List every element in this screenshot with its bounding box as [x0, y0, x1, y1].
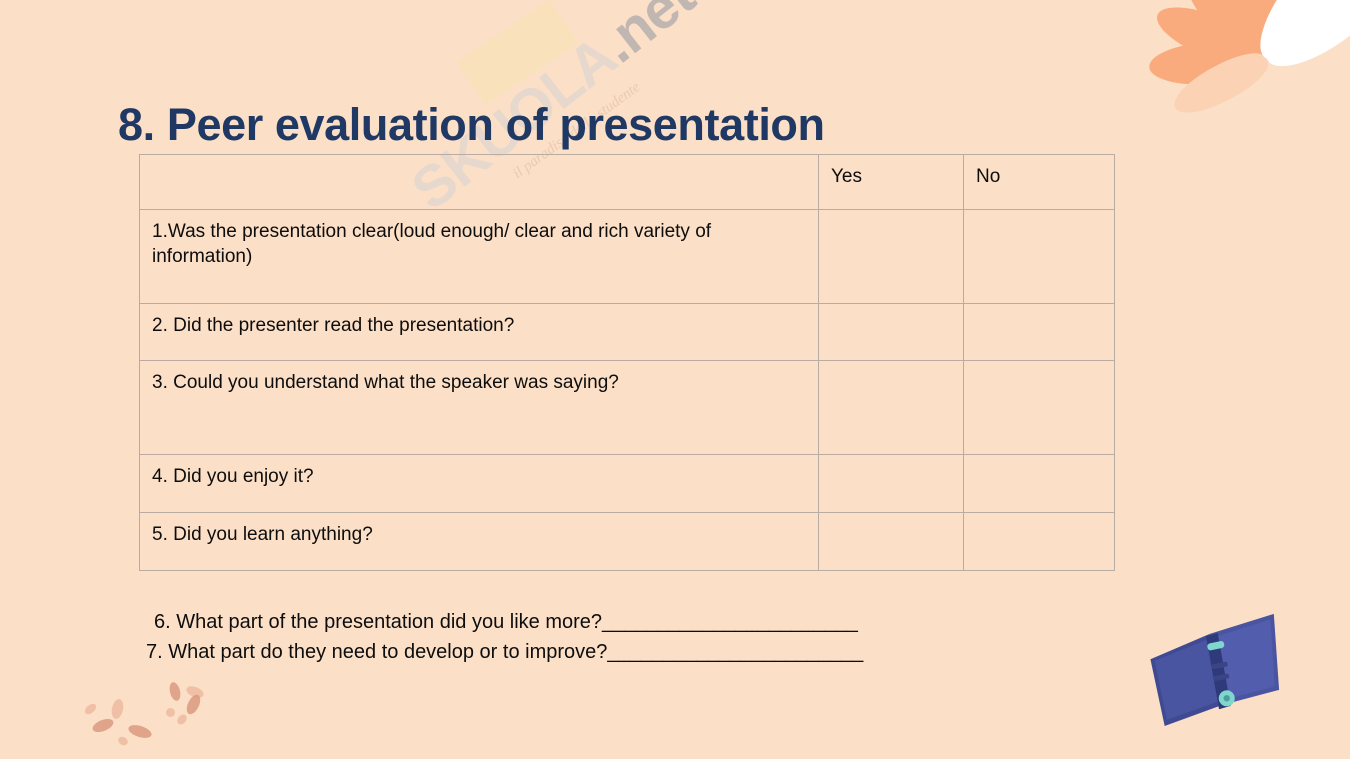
- question-cell: 3. Could you understand what the speaker…: [140, 361, 819, 455]
- answer-cell-no[interactable]: [964, 304, 1115, 361]
- table-header-row: Yes No: [140, 155, 1115, 210]
- peer-evaluation-table: Yes No 1.Was the presentation clear(loud…: [139, 154, 1115, 571]
- slide-content: 8. Peer evaluation of presentation Yes N…: [0, 0, 1350, 759]
- question-cell: 5. Did you learn anything?: [140, 513, 819, 571]
- answer-cell-no[interactable]: [964, 455, 1115, 513]
- followup-questions: 6. What part of the presentation did you…: [154, 607, 863, 668]
- answer-cell-yes[interactable]: [819, 210, 964, 304]
- question-cell: 1.Was the presentation clear(loud enough…: [140, 210, 819, 304]
- table-row: 2. Did the presenter read the presentati…: [140, 304, 1115, 361]
- answer-cell-no[interactable]: [964, 361, 1115, 455]
- question-cell: 4. Did you enjoy it?: [140, 455, 819, 513]
- answer-cell-yes[interactable]: [819, 513, 964, 571]
- header-cell-yes: Yes: [819, 155, 964, 210]
- header-cell-question: [140, 155, 819, 210]
- header-cell-no: No: [964, 155, 1115, 210]
- table-row: 4. Did you enjoy it?: [140, 455, 1115, 513]
- answer-cell-yes[interactable]: [819, 455, 964, 513]
- table-row: 3. Could you understand what the speaker…: [140, 361, 1115, 455]
- answer-cell-no[interactable]: [964, 210, 1115, 304]
- followup-question-6: 6. What part of the presentation did you…: [154, 607, 863, 637]
- answer-cell-yes[interactable]: [819, 304, 964, 361]
- answer-cell-no[interactable]: [964, 513, 1115, 571]
- question-cell: 2. Did the presenter read the presentati…: [140, 304, 819, 361]
- followup-question-7: 7. What part do they need to develop or …: [146, 637, 863, 667]
- table-row: 5. Did you learn anything?: [140, 513, 1115, 571]
- answer-cell-yes[interactable]: [819, 361, 964, 455]
- page-title: 8. Peer evaluation of presentation: [118, 99, 825, 151]
- table-row: 1.Was the presentation clear(loud enough…: [140, 210, 1115, 304]
